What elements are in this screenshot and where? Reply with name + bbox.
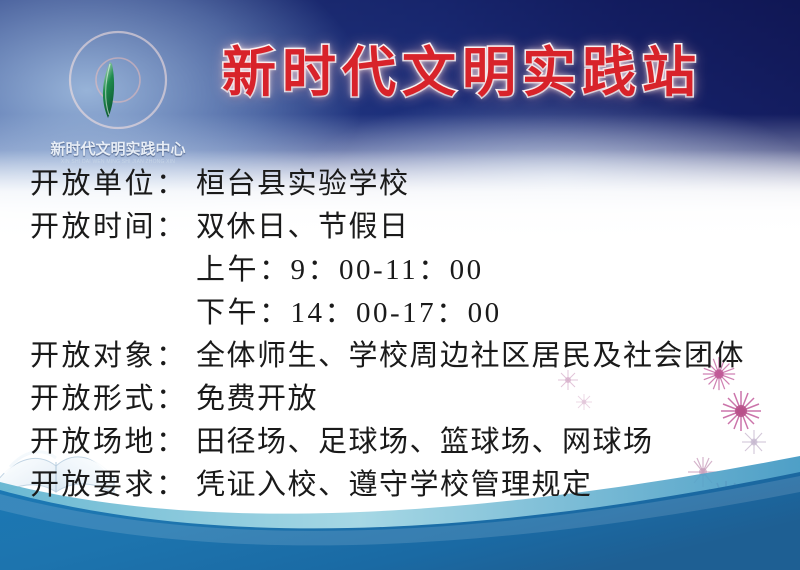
info-row-value: 双休日、节假日 (196, 203, 410, 245)
info-row-value: 全体师生、学校周边社区居民及社会团体 (196, 332, 745, 374)
banner-title: 新时代文明实践站 (222, 36, 722, 110)
info-row-label: 开放场地： (30, 418, 196, 460)
info-row: 开放时间： 双休日、节假日 (30, 203, 770, 246)
info-row: 开放单位： 桓台县实验学校 (30, 160, 770, 203)
logo-title: 新时代文明实践中心 (40, 142, 196, 157)
info-row-value: 下午：14：00-17：00 (196, 289, 502, 331)
info-list: 开放单位： 桓台县实验学校 开放时间： 双休日、节假日 上午：9：00-11：0… (30, 160, 770, 504)
info-row: 上午：9：00-11：00 (30, 246, 770, 289)
poster-canvas: 新时代文明实践中心 XIN SHI DAI WEN MING SHI JIAN … (0, 0, 800, 570)
info-row-value: 免费开放 (196, 375, 318, 417)
info-row-value: 上午：9：00-11：00 (196, 246, 484, 288)
info-row-value: 田径场、足球场、篮球场、网球场 (196, 418, 654, 460)
info-row-label: 开放形式： (30, 375, 196, 417)
info-row: 开放对象： 全体师生、学校周边社区居民及社会团体 (30, 332, 770, 375)
info-row: 开放场地： 田径场、足球场、篮球场、网球场 (30, 418, 770, 461)
info-row-label: 开放时间： (30, 203, 196, 245)
info-row-value: 凭证入校、遵守学校管理规定 (196, 461, 593, 503)
info-row-label: 开放要求： (30, 461, 196, 503)
info-row-label: 开放单位： (30, 160, 196, 202)
info-row-label: 开放对象： (30, 332, 196, 374)
info-row: 开放要求： 凭证入校、遵守学校管理规定 (30, 461, 770, 504)
info-row: 下午：14：00-17：00 (30, 289, 770, 332)
info-row: 开放形式： 免费开放 (30, 375, 770, 418)
logo: 新时代文明实践中心 XIN SHI DAI WEN MING SHI JIAN … (40, 22, 196, 162)
info-row-value: 桓台县实验学校 (196, 160, 410, 202)
dandelion-burst-icon (58, 22, 178, 140)
